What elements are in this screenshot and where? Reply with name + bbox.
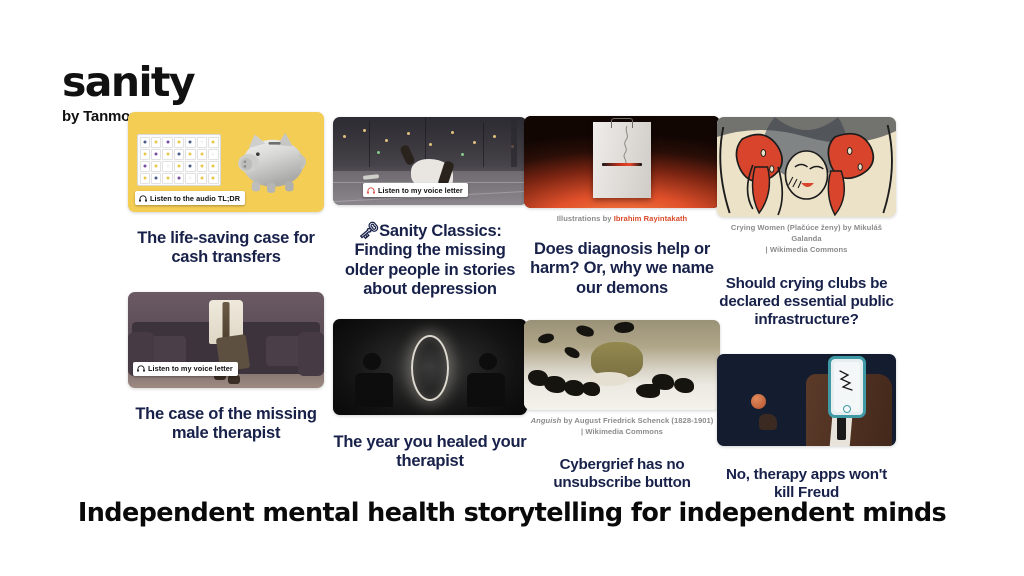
- poster-canvas: sanity by Tanmoy: [0, 0, 1024, 576]
- artwork-crying-women: [717, 117, 896, 217]
- credit-artwork-title: Crying Women (Plačúce ženy) by Mikuláš G…: [731, 223, 882, 243]
- artwork-piggy-bank: Listen to the audio TL;DR: [128, 112, 324, 212]
- article-title[interactable]: 🗝Sanity Classics: Finding the missing ol…: [333, 222, 527, 299]
- credit-artwork-title: Anguish: [531, 416, 562, 425]
- article-title[interactable]: The life-saving case for cash transfers: [128, 229, 324, 268]
- thumbnail-piggy-bank[interactable]: Listen to the audio TL;DR: [128, 112, 324, 212]
- article-card-crying-clubs[interactable]: Crying Women (Plačúce ženy) by Mikuláš G…: [717, 117, 896, 328]
- thumbnail-crying-women[interactable]: [717, 117, 896, 217]
- audio-badge[interactable]: Listen to the audio TL;DR: [135, 191, 245, 205]
- thumbnail-clipboard-gradient[interactable]: [524, 116, 720, 208]
- image-credit-caption: Illustrations by Ibrahim Rayintakath: [524, 213, 720, 224]
- article-card-cash-transfers[interactable]: Listen to the audio TL;DR The life-savin…: [128, 112, 324, 268]
- headphone-icon: [139, 195, 147, 202]
- headphone-icon: [367, 187, 375, 194]
- article-card-missing-male-therapist[interactable]: Listen to my voice letter The case of th…: [128, 292, 324, 444]
- credit-artist-name: Ibrahim Rayintakath: [614, 214, 688, 223]
- article-title[interactable]: Should crying clubs be declared essentia…: [717, 275, 896, 328]
- credit-source: | Wikimedia Commons: [581, 427, 663, 436]
- voice-letter-badge[interactable]: Listen to my voice letter: [363, 183, 468, 197]
- article-card-healed-your-therapist[interactable]: The year you healed your therapist: [333, 319, 527, 472]
- artwork-empty-suit-sofa: Listen to my voice letter: [128, 292, 324, 388]
- grid-column-1: Listen to the audio TL;DR The life-savin…: [128, 112, 324, 445]
- image-credit-caption: Crying Women (Plačúce ženy) by Mikuláš G…: [717, 222, 896, 255]
- headphone-icon: [137, 365, 145, 372]
- article-title[interactable]: Cybergrief has no unsubscribe button: [524, 456, 720, 492]
- thumbnail-anguish-painting[interactable]: [524, 320, 720, 410]
- voice-letter-badge-label: Listen to my voice letter: [378, 186, 463, 195]
- thumbnail-street-at-dusk[interactable]: Listen to my voice letter: [333, 117, 527, 205]
- thumbnail-empty-suit-sofa[interactable]: Listen to my voice letter: [128, 292, 324, 388]
- artwork-clipboard-orange: [524, 116, 720, 208]
- page-tagline: Independent mental health storytelling f…: [0, 498, 1024, 528]
- thumbnail-glowing-oval[interactable]: [333, 319, 527, 415]
- article-title[interactable]: The case of the missing male therapist: [128, 405, 324, 444]
- grid-column-2: Listen to my voice letter 🗝Sanity Classi…: [333, 112, 527, 474]
- brand-wordmark: sanity: [62, 62, 282, 103]
- grid-column-4: Crying Women (Plačúce ženy) by Mikuláš G…: [717, 112, 896, 504]
- pill-pack-illustration: [137, 134, 221, 186]
- key-icon: 🗝: [358, 222, 379, 240]
- thumbnail-phone-head-figure[interactable]: [717, 354, 896, 446]
- crying-women-drawing: [717, 117, 896, 217]
- audio-badge-label: Listen to the audio TL;DR: [150, 194, 240, 203]
- voice-letter-badge[interactable]: Listen to my voice letter: [133, 362, 238, 376]
- credit-prefix: by August Friedrick Schenck (1828-1901): [561, 416, 713, 425]
- voice-letter-badge-label: Listen to my voice letter: [148, 364, 233, 373]
- article-card-sanity-classics[interactable]: Listen to my voice letter 🗝Sanity Classi…: [333, 117, 527, 299]
- grid-column-3: Illustrations by Ibrahim Rayintakath Doe…: [524, 112, 720, 493]
- artwork-street-at-dusk: Listen to my voice letter: [333, 117, 527, 205]
- piggy-bank-icon: [232, 128, 308, 194]
- scribble-icon: [838, 369, 856, 391]
- article-card-diagnosis[interactable]: Illustrations by Ibrahim Rayintakath Doe…: [524, 116, 720, 298]
- credit-source: | Wikimedia Commons: [766, 245, 848, 254]
- article-title[interactable]: No, therapy apps won't kill Freud: [717, 466, 896, 502]
- artwork-anguish-painting: [524, 320, 720, 410]
- article-card-cybergrief[interactable]: Anguish by August Friedrick Schenck (182…: [524, 320, 720, 492]
- artwork-two-silhouettes: [333, 319, 527, 415]
- artwork-phone-head-figure: [717, 354, 896, 446]
- article-title[interactable]: Does diagnosis help or harm? Or, why we …: [524, 240, 720, 298]
- credit-prefix: Illustrations by: [557, 214, 614, 223]
- article-card-therapy-apps-freud[interactable]: No, therapy apps won't kill Freud: [717, 354, 896, 502]
- image-credit-caption: Anguish by August Friedrick Schenck (182…: [524, 415, 720, 437]
- squiggle-line-icon: [619, 126, 635, 164]
- article-title[interactable]: The year you healed your therapist: [333, 433, 527, 472]
